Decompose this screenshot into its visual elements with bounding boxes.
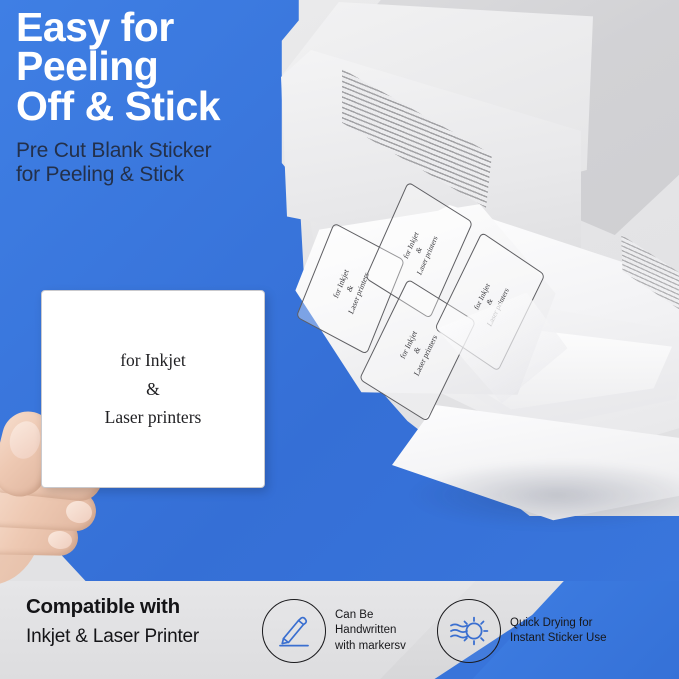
feature-1-line-1: Can Be — [335, 608, 406, 623]
card-line-2: & — [105, 375, 202, 403]
product-marketing-image: for Inkjet & Laser printers for Inkjet &… — [0, 0, 679, 679]
page-title: Easy for Peeling Off & Stick — [16, 8, 346, 126]
sticker-label-card: for Inkjet & Laser printers — [41, 290, 265, 488]
card-line-1: for Inkjet — [105, 346, 202, 374]
sun-drying-icon — [437, 599, 501, 663]
headline-line-1: Easy for — [16, 8, 346, 47]
subtitle: Pre Cut Blank Sticker for Peeling & Stic… — [16, 139, 346, 187]
compatible-subtitle: Inkjet & Laser Printer — [26, 626, 266, 648]
pen-icon — [262, 599, 326, 663]
printer-drop-shadow — [407, 460, 679, 530]
feature-1-line-2: Handwritten — [335, 623, 406, 638]
subtitle-line-1: Pre Cut Blank Sticker — [16, 139, 346, 163]
sticker-sheet: for Inkjet & Laser printers for Inkjet &… — [293, 202, 560, 411]
headline-block: Easy for Peeling Off & Stick Pre Cut Bla… — [16, 8, 346, 187]
feature-2-line-2: Instant Sticker Use — [510, 631, 607, 646]
compatible-title: Compatible with — [26, 595, 266, 619]
feature-quick-drying-text: Quick Drying for Instant Sticker Use — [510, 616, 607, 646]
feature-handwritten-text: Can Be Handwritten with markersv — [335, 608, 406, 654]
compatibility-text: Compatible with Inkjet & Laser Printer — [26, 595, 266, 648]
feature-2-line-1: Quick Drying for — [510, 616, 607, 631]
headline-line-3: Off & Stick — [16, 87, 346, 126]
headline-line-2: Peeling — [16, 47, 346, 86]
sticker-label-card-text: for Inkjet & Laser printers — [105, 346, 202, 431]
card-line-3: Laser printers — [105, 403, 202, 431]
feature-handwritten: Can Be Handwritten with markersv — [262, 599, 406, 663]
feature-1-line-3: with markersv — [335, 639, 406, 654]
subtitle-line-2: for Peeling & Stick — [16, 163, 346, 187]
feature-quick-drying: Quick Drying for Instant Sticker Use — [437, 599, 607, 663]
footer-bar: Compatible with Inkjet & Laser Printer C… — [0, 581, 679, 679]
